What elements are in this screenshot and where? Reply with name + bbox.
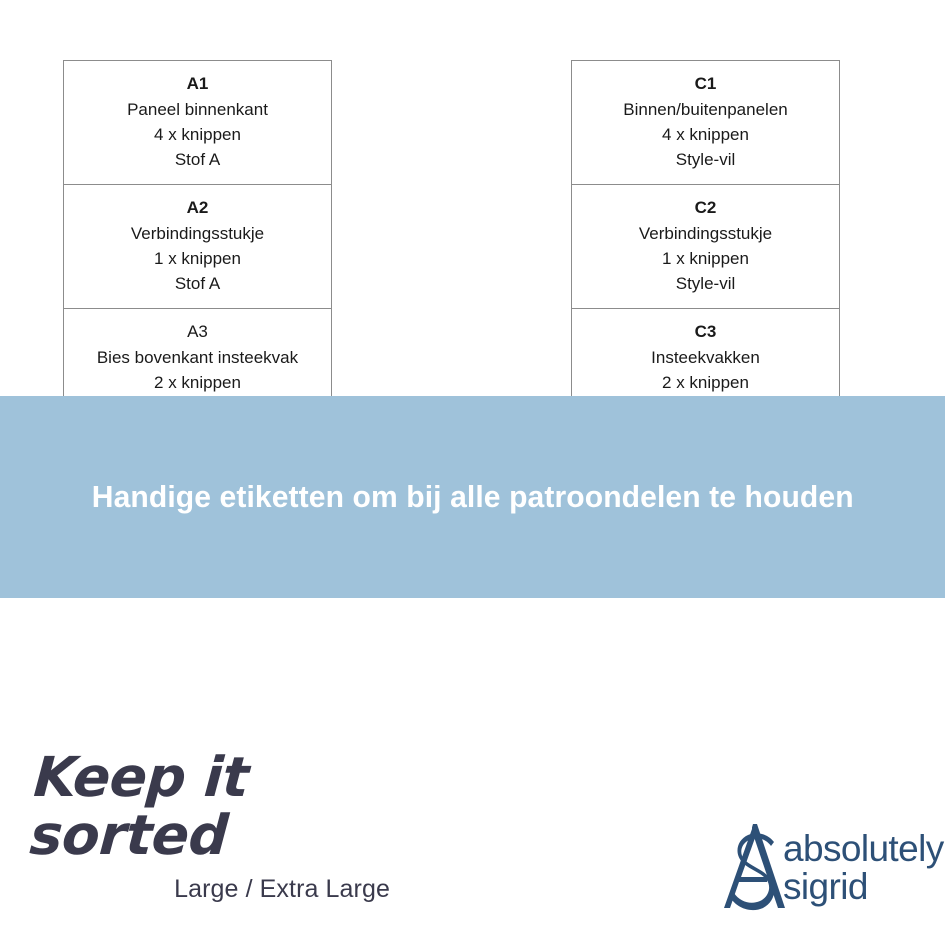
tagline: Keep it sorted <box>28 748 456 864</box>
label-description-c2: Verbindingsstukje <box>578 221 833 246</box>
banner: Handige etiketten om bij alle patroondel… <box>0 396 945 598</box>
label-quantity-a2: 1 x knippen <box>70 246 325 271</box>
label-code-c2: C2 <box>578 195 833 220</box>
banner-headline: Handige etiketten om bij alle patroondel… <box>92 479 854 515</box>
label-code-a2: A2 <box>70 195 325 220</box>
label-description-a2: Verbindingsstukje <box>70 221 325 246</box>
label-cell-c1: C1 Binnen/buitenpanelen 4 x knippen Styl… <box>572 61 839 185</box>
size-note: Large / Extra Large <box>28 875 448 904</box>
label-material-c1: Style-vil <box>578 147 833 172</box>
label-cell-c2: C2 Verbindingsstukje 1 x knippen Style-v… <box>572 185 839 309</box>
brand-logo: absolutely sigrid <box>712 820 927 920</box>
logo-word-sigrid: sigrid <box>783 868 944 906</box>
label-cell-a2: A2 Verbindingsstukje 1 x knippen Stof A <box>64 185 331 309</box>
label-tables-area: A1 Paneel binnenkant 4 x knippen Stof A … <box>0 0 945 400</box>
label-code-a3: A3 <box>70 319 325 344</box>
label-description-c1: Binnen/buitenpanelen <box>578 97 833 122</box>
label-code-c3: C3 <box>578 319 833 344</box>
label-code-a1: A1 <box>70 71 325 96</box>
label-quantity-c2: 1 x knippen <box>578 246 833 271</box>
label-description-a3: Bies bovenkant insteekvak <box>70 345 325 370</box>
label-material-a1: Stof A <box>70 147 325 172</box>
label-description-a1: Paneel binnenkant <box>70 97 325 122</box>
label-table-column-a: A1 Paneel binnenkant 4 x knippen Stof A … <box>63 60 332 434</box>
label-quantity-c3: 2 x knippen <box>578 370 833 395</box>
label-quantity-a3: 2 x knippen <box>70 370 325 395</box>
logo-wordmark: absolutely sigrid <box>783 830 944 906</box>
label-material-a2: Stof A <box>70 271 325 296</box>
label-quantity-c1: 4 x knippen <box>578 122 833 147</box>
label-table-column-c: C1 Binnen/buitenpanelen 4 x knippen Styl… <box>571 60 840 434</box>
label-description-c3: Insteekvakken <box>578 345 833 370</box>
tagline-block: Keep it sorted Large / Extra Large <box>28 748 448 904</box>
label-quantity-a1: 4 x knippen <box>70 122 325 147</box>
footer: Keep it sorted Large / Extra Large absol… <box>0 598 945 945</box>
label-code-c1: C1 <box>578 71 833 96</box>
label-cell-a1: A1 Paneel binnenkant 4 x knippen Stof A <box>64 61 331 185</box>
as-monogram-icon <box>712 820 788 918</box>
label-material-c2: Style-vil <box>578 271 833 296</box>
logo-word-absolutely: absolutely <box>783 830 944 868</box>
